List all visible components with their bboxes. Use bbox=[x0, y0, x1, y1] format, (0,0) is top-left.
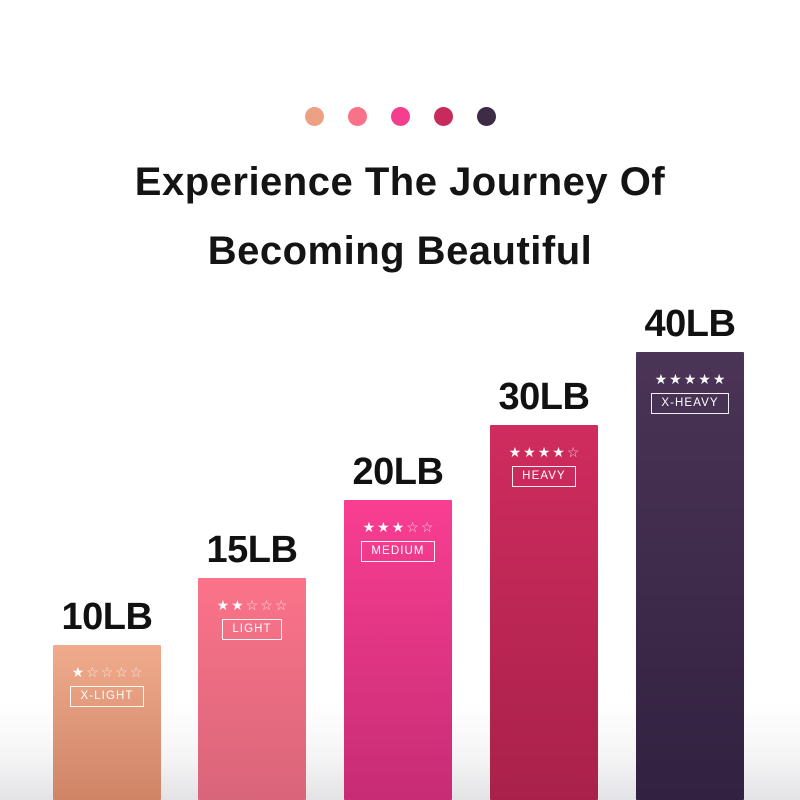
star-empty-icon: ☆ bbox=[130, 665, 143, 679]
level-badge: MEDIUM bbox=[361, 541, 434, 562]
bar-medium[interactable]: ★★★☆☆MEDIUM bbox=[344, 500, 452, 800]
level-badge: X-LIGHT bbox=[70, 686, 143, 707]
star-rating: ★★☆☆☆ bbox=[217, 598, 288, 612]
poster-canvas: Experience The Journey Of Becoming Beaut… bbox=[0, 0, 800, 800]
bar-weight-label: 30LB bbox=[490, 376, 598, 419]
star-empty-icon: ☆ bbox=[115, 665, 128, 679]
level-badge: LIGHT bbox=[222, 619, 281, 640]
star-empty-icon: ☆ bbox=[86, 665, 99, 679]
star-rating: ★★★★★ bbox=[655, 372, 726, 386]
star-filled-icon: ★ bbox=[217, 598, 230, 612]
star-filled-icon: ★ bbox=[552, 445, 565, 459]
star-filled-icon: ★ bbox=[698, 372, 711, 386]
bar-group-x-heavy[interactable]: 40LB★★★★★X-HEAVY bbox=[636, 292, 744, 800]
bar-x-heavy[interactable]: ★★★★★X-HEAVY bbox=[636, 352, 744, 800]
bar-weight-label: 10LB bbox=[53, 596, 161, 639]
star-empty-icon: ☆ bbox=[567, 445, 580, 459]
bar-x-light[interactable]: ★☆☆☆☆X-LIGHT bbox=[53, 645, 161, 800]
bar-weight-label: 20LB bbox=[344, 451, 452, 494]
level-badge: X-HEAVY bbox=[651, 393, 728, 414]
star-rating: ★☆☆☆☆ bbox=[72, 665, 143, 679]
star-filled-icon: ★ bbox=[538, 445, 551, 459]
bar-content: ★★☆☆☆LIGHT bbox=[198, 598, 306, 640]
star-empty-icon: ☆ bbox=[246, 598, 259, 612]
bar-content: ★☆☆☆☆X-LIGHT bbox=[53, 665, 161, 707]
star-empty-icon: ☆ bbox=[101, 665, 114, 679]
star-rating: ★★★★☆ bbox=[509, 445, 580, 459]
bar-weight-label: 15LB bbox=[198, 529, 306, 572]
bar-group-medium[interactable]: 20LB★★★☆☆MEDIUM bbox=[344, 440, 452, 800]
resistance-bar-chart: 10LB★☆☆☆☆X-LIGHT15LB★★☆☆☆LIGHT20LB★★★☆☆M… bbox=[0, 0, 800, 800]
star-empty-icon: ☆ bbox=[260, 598, 273, 612]
bar-heavy[interactable]: ★★★★☆HEAVY bbox=[490, 425, 598, 800]
level-badge: HEAVY bbox=[512, 466, 576, 487]
star-filled-icon: ★ bbox=[684, 372, 697, 386]
star-empty-icon: ☆ bbox=[406, 520, 419, 534]
bar-content: ★★★☆☆MEDIUM bbox=[344, 520, 452, 562]
star-empty-icon: ☆ bbox=[421, 520, 434, 534]
bar-content: ★★★★★X-HEAVY bbox=[636, 372, 744, 414]
star-rating: ★★★☆☆ bbox=[363, 520, 434, 534]
bar-group-light[interactable]: 15LB★★☆☆☆LIGHT bbox=[198, 518, 306, 800]
bar-weight-label: 40LB bbox=[636, 303, 744, 346]
star-filled-icon: ★ bbox=[713, 372, 726, 386]
star-filled-icon: ★ bbox=[363, 520, 376, 534]
star-filled-icon: ★ bbox=[509, 445, 522, 459]
bar-group-heavy[interactable]: 30LB★★★★☆HEAVY bbox=[490, 365, 598, 800]
bar-content: ★★★★☆HEAVY bbox=[490, 445, 598, 487]
star-empty-icon: ☆ bbox=[275, 598, 288, 612]
star-filled-icon: ★ bbox=[392, 520, 405, 534]
bar-light[interactable]: ★★☆☆☆LIGHT bbox=[198, 578, 306, 800]
star-filled-icon: ★ bbox=[231, 598, 244, 612]
bar-group-x-light[interactable]: 10LB★☆☆☆☆X-LIGHT bbox=[53, 585, 161, 800]
star-filled-icon: ★ bbox=[669, 372, 682, 386]
star-filled-icon: ★ bbox=[72, 665, 85, 679]
star-filled-icon: ★ bbox=[655, 372, 668, 386]
star-filled-icon: ★ bbox=[523, 445, 536, 459]
star-filled-icon: ★ bbox=[377, 520, 390, 534]
